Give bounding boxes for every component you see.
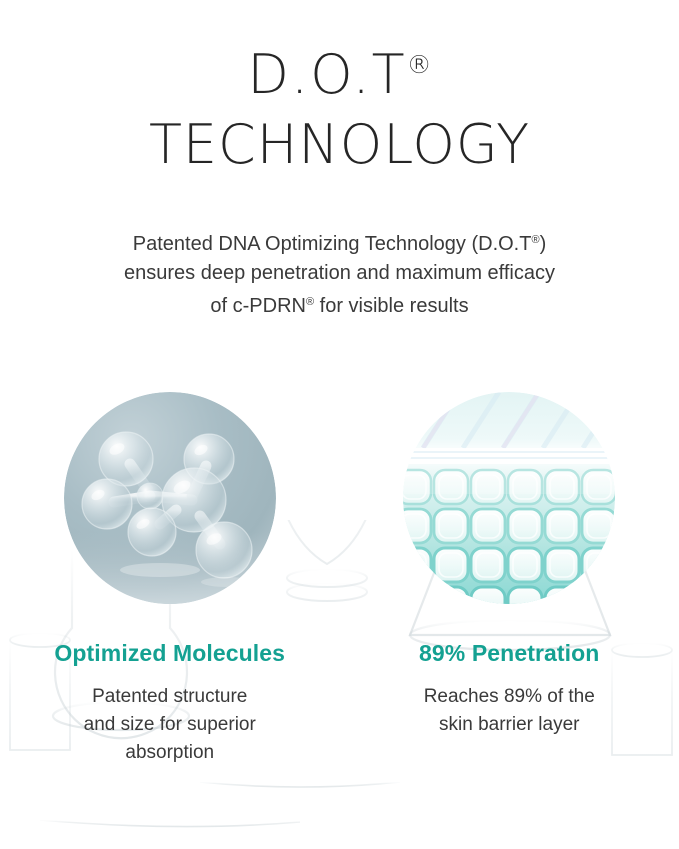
subtitle-line-3-text: of c-PDRN xyxy=(210,295,306,317)
subtitle-line-3-tail: for visible results xyxy=(314,295,469,317)
subtitle: Patented DNA Optimizing Technology (D.O.… xyxy=(0,226,679,321)
page-title: D.O.T® TECHNOLOGY xyxy=(0,48,679,172)
feature-caption-line: skin barrier layer xyxy=(424,711,595,739)
subtitle-line-2: ensures deep penetration and maximum eff… xyxy=(0,259,679,288)
feature-penetration: 89% Penetration Reaches 89% of the skin … xyxy=(340,392,679,767)
title-line-technology: TECHNOLOGY xyxy=(0,118,679,172)
feature-heading: Optimized Molecules xyxy=(54,640,285,667)
feature-caption: Reaches 89% of the skin barrier layer xyxy=(424,683,595,739)
dot-technology-infographic: D.O.T® TECHNOLOGY Patented DNA Optimizin… xyxy=(0,0,679,849)
feature-caption-line: and size for superior xyxy=(84,711,256,739)
feature-optimized-molecules: Optimized Molecules Patented structure a… xyxy=(0,392,340,767)
registered-trademark-icon: ® xyxy=(531,234,539,246)
subtitle-line-3: of c-PDRN® for visible results xyxy=(0,288,679,321)
subtitle-line-1: Patented DNA Optimizing Technology (D.O.… xyxy=(0,226,679,259)
feature-heading: 89% Penetration xyxy=(419,640,599,667)
feature-caption-line: absorption xyxy=(84,739,256,767)
molecule-illustration xyxy=(64,392,276,604)
subtitle-line-1-tail: ) xyxy=(540,233,547,255)
registered-trademark-icon: ® xyxy=(306,296,314,308)
title-dot-text: D.O.T xyxy=(247,43,406,106)
registered-trademark-icon: ® xyxy=(407,50,432,79)
skin-barrier-lattice-illustration xyxy=(403,392,615,604)
subtitle-line-1-text: Patented DNA Optimizing Technology (D.O.… xyxy=(133,233,532,255)
feature-columns: Optimized Molecules Patented structure a… xyxy=(0,392,679,767)
feature-caption-line: Reaches 89% of the xyxy=(424,683,595,711)
title-line-dot: D.O.T® xyxy=(0,48,679,102)
feature-caption: Patented structure and size for superior… xyxy=(84,683,256,767)
feature-caption-line: Patented structure xyxy=(84,683,256,711)
